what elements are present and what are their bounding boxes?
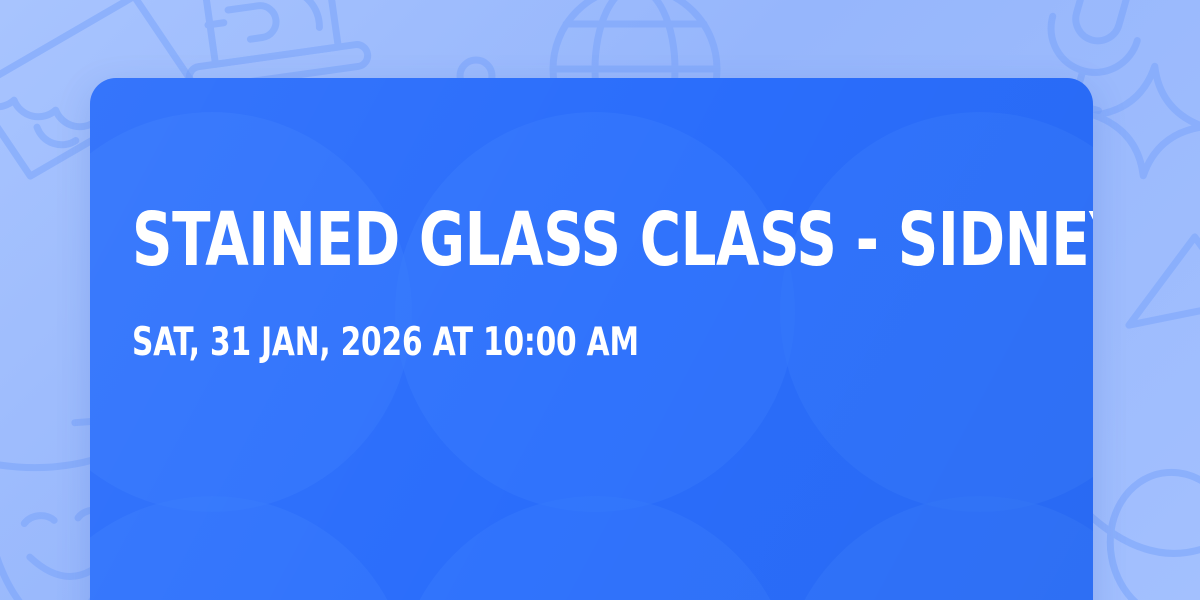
banner-canvas: Stained Glass Class - Sidney Sat, 31 Jan…	[0, 0, 1200, 600]
card-decor-circle	[780, 496, 1093, 600]
sparkle-icon	[1078, 50, 1200, 193]
event-card[interactable]: Stained Glass Class - Sidney Sat, 31 Jan…	[90, 78, 1093, 600]
party-popper-icon	[1115, 186, 1200, 374]
event-title: Stained Glass Class - Sidney	[132, 204, 910, 277]
balloon-icon	[1076, 451, 1200, 600]
card-decor-circle	[395, 496, 795, 600]
event-card-content: Stained Glass Class - Sidney Sat, 31 Jan…	[132, 204, 1053, 362]
card-decor-circle	[90, 496, 412, 600]
event-datetime: Sat, 31 Jan, 2026 at 10:00 AM	[132, 323, 910, 362]
